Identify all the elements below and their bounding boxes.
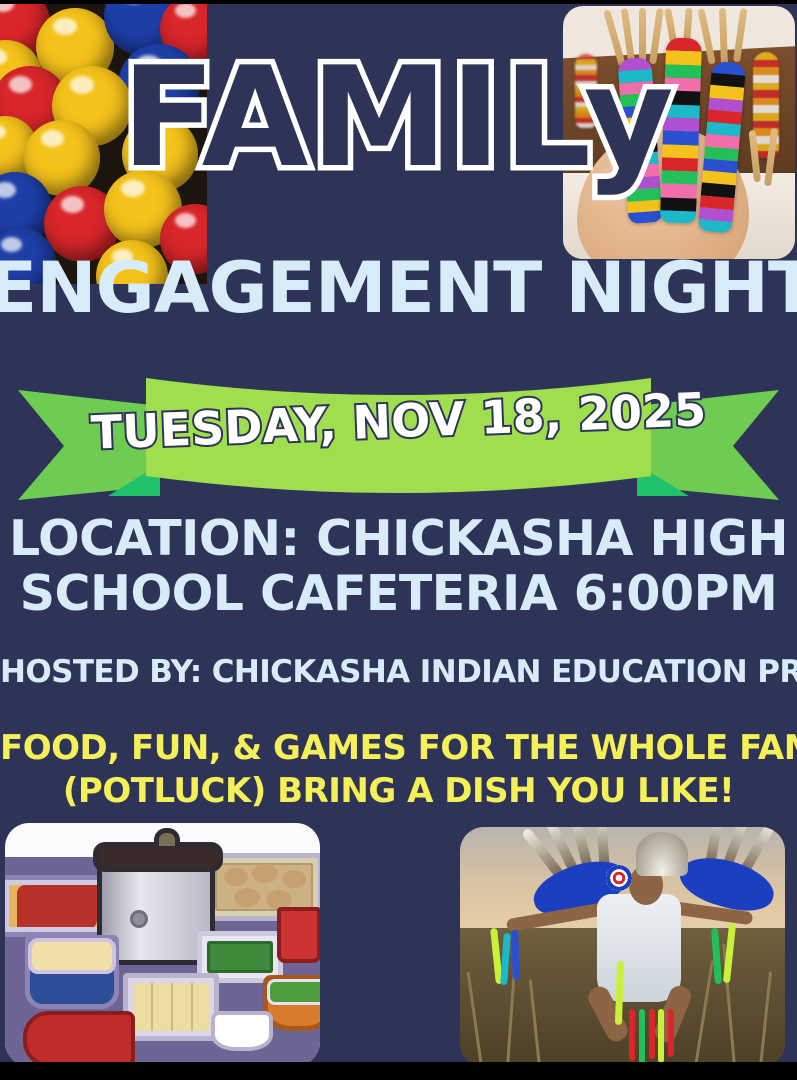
- slow-cooker-lid: [93, 842, 223, 872]
- potluck-food-clipart: [5, 823, 320, 1062]
- roll: [282, 870, 306, 888]
- roll: [224, 868, 248, 886]
- slow-cooker-knob: [154, 828, 180, 846]
- plate-stack: [211, 1011, 273, 1051]
- food: [28, 938, 116, 974]
- poster-canvas: FAMILy ENGAGEMENT NIGHT TUESDAY, NOV 18,…: [0, 4, 797, 1062]
- feather-roach-headdress: [636, 832, 688, 876]
- page-subtitle: ENGAGEMENT NIGHT: [0, 253, 797, 323]
- cornbread-tray: [123, 973, 219, 1041]
- promo-line-1: FOOD, FUN, & GAMES FOR THE WHOLE FAMILY: [0, 727, 797, 770]
- location-line-1: LOCATION: CHICKASHA HIGH: [0, 512, 797, 567]
- ribbon: [639, 1009, 645, 1062]
- oven-mitt: [23, 1011, 135, 1062]
- page-title: FAMILy: [0, 60, 797, 176]
- regalia-apron: [597, 894, 681, 1002]
- location-text: LOCATION: CHICKASHA HIGH SCHOOL CAFETERI…: [0, 512, 797, 622]
- pipe-cleaner-stem: [719, 8, 728, 66]
- promo-text: FOOD, FUN, & GAMES FOR THE WHOLE FAMILY …: [0, 727, 797, 813]
- ribbon: [658, 1009, 664, 1062]
- date-banner: TUESDAY, NOV 18, 2025: [0, 360, 797, 510]
- ribbon: [649, 1009, 655, 1059]
- location-line-2: SCHOOL CAFETERIA 6:00PM: [0, 567, 797, 622]
- slow-cooker-dial: [130, 910, 148, 928]
- food: [267, 979, 320, 1005]
- ribbon: [668, 1009, 674, 1057]
- family-engagement-night-flyer: FAMILy ENGAGEMENT NIGHT TUESDAY, NOV 18,…: [0, 0, 797, 1080]
- food: [207, 941, 273, 973]
- ribbon: [629, 1009, 635, 1061]
- promo-line-2: (POTLUCK) BRING A DISH YOU LIKE!: [0, 770, 797, 813]
- roll: [252, 864, 278, 883]
- food: [133, 983, 209, 1031]
- potato-salad-bowl: [25, 935, 119, 1009]
- roll: [234, 888, 260, 907]
- food: [9, 885, 105, 927]
- powwow-dancer-photo: [460, 827, 785, 1062]
- drink-cup: [277, 907, 320, 963]
- hosted-by-text: HOSTED BY: CHICKASHA INDIAN EDUCATION PR…: [0, 657, 797, 688]
